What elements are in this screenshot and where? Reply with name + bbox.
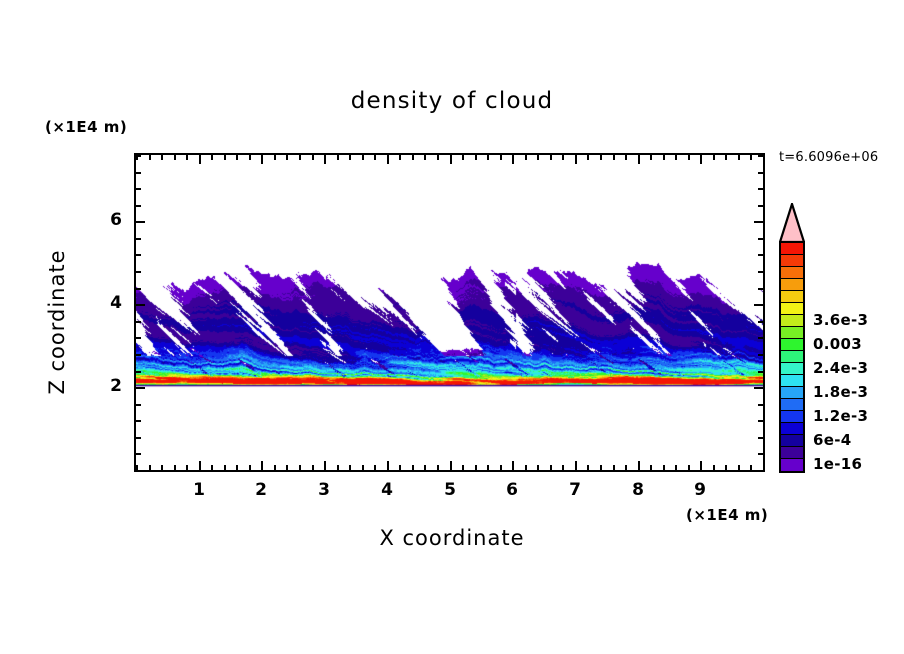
axis-tick [299,155,301,160]
colorbar-tick-label: 0.003 [813,335,862,353]
axis-tick [136,354,141,356]
colorbar-band [781,435,803,447]
axis-tick [758,321,763,323]
axis-tick [758,238,763,240]
colorbar-band [781,423,803,435]
axis-tick [512,461,514,470]
axis-tick [136,205,141,207]
axis-tick [650,465,652,470]
colorbar-band [781,351,803,363]
axis-tick [613,155,615,160]
axis-tick [758,205,763,207]
plot-stage: density of cloud (×1E4 m) t=6.6096e+06 1… [0,0,904,654]
axis-tick [758,288,763,290]
axis-tick [475,465,477,470]
axis-tick [136,387,145,389]
axis-tick [312,465,314,470]
colorbar-band [781,375,803,387]
axis-tick [688,155,690,160]
axis-tick [587,155,589,160]
axis-tick [713,155,715,160]
axis-tick [362,465,364,470]
axis-tick [550,465,552,470]
axis-tick [149,465,151,470]
axis-tick [650,155,652,160]
x-tick-label: 3 [294,480,354,500]
axis-tick [758,437,763,439]
axis-tick [758,271,763,273]
x-tick-label: 8 [608,480,668,500]
colorbar-extend-arrow-icon [779,203,805,243]
page-title: density of cloud [0,88,904,114]
axis-tick [136,221,145,223]
axis-tick [487,155,489,160]
axis-tick [424,465,426,470]
colorbar-band [781,291,803,303]
axis-tick [337,465,339,470]
axis-tick [437,465,439,470]
colorbar-band [781,243,803,255]
axis-tick [211,155,213,160]
timestamp-annotation: t=6.6096e+06 [779,150,878,165]
axis-tick [387,461,389,470]
axis-tick [437,155,439,160]
contour-field-canvas [136,155,763,470]
axis-tick [174,155,176,160]
axis-tick [136,288,141,290]
axis-tick [600,465,602,470]
axis-tick [575,461,577,470]
axis-tick [349,155,351,160]
axis-tick [625,465,627,470]
colorbar-tick-label: 1.8e-3 [813,383,868,401]
axis-tick [758,155,763,157]
axis-tick [136,188,141,190]
x-tick-label: 2 [231,480,291,500]
axis-tick [750,465,752,470]
axis-tick [161,465,163,470]
axis-tick [512,155,514,164]
colorbar-band [781,363,803,375]
axis-tick [537,155,539,160]
axis-tick [758,188,763,190]
axis-tick [136,337,141,339]
axis-tick [136,271,141,273]
colorbar-tick-label: 3.6e-3 [813,311,868,329]
axis-tick [638,155,640,164]
colorbar-tick-label: 1.2e-3 [813,407,868,425]
colorbar-band [781,339,803,351]
axis-tick [562,465,564,470]
axis-tick [312,155,314,160]
axis-tick [136,254,141,256]
axis-tick [763,465,765,470]
axis-tick [700,461,702,470]
axis-tick [487,465,489,470]
axis-tick [186,155,188,160]
axis-tick [362,155,364,160]
x-tick-label: 6 [482,480,542,500]
axis-tick [450,155,452,164]
colorbar-band [781,411,803,423]
axis-tick [136,470,141,472]
axis-tick [424,155,426,160]
axis-tick [738,465,740,470]
colorbar-bands [779,241,805,473]
axis-tick [462,155,464,160]
colorbar-band [781,327,803,339]
axis-tick [236,465,238,470]
axis-tick [324,461,326,470]
axis-tick [374,465,376,470]
x-tick-label: 4 [357,480,417,500]
axis-tick [725,465,727,470]
axis-tick [758,254,763,256]
colorbar-band [781,255,803,267]
axis-tick [758,354,763,356]
axis-tick [758,420,763,422]
axis-tick [349,465,351,470]
colorbar-band [781,267,803,279]
axis-tick [500,465,502,470]
x-axis-title: X coordinate [0,526,904,550]
y-axis-unit-label: (×1E4 m) [45,118,127,136]
axis-tick [688,465,690,470]
colorbar-tick-label: 1e-16 [813,455,862,473]
axis-tick [224,155,226,160]
x-tick-label: 5 [420,480,480,500]
x-tick-label: 7 [545,480,605,500]
axis-tick [758,172,763,174]
axis-tick [136,321,141,323]
colorbar: 1e-166e-41.2e-31.8e-32.4e-30.0033.6e-3 [779,203,899,483]
axis-tick [199,461,201,470]
axis-tick [613,465,615,470]
axis-tick [600,155,602,160]
axis-tick [299,465,301,470]
axis-tick [261,155,263,164]
axis-tick [199,155,201,164]
axis-tick [675,465,677,470]
axis-tick [587,465,589,470]
colorbar-band [781,447,803,459]
axis-tick [758,470,763,472]
colorbar-band [781,303,803,315]
colorbar-band [781,315,803,327]
axis-tick [575,155,577,164]
colorbar-band [781,399,803,411]
axis-tick [525,465,527,470]
axis-tick [399,155,401,160]
axis-tick [136,172,141,174]
axis-tick [750,155,752,160]
axis-tick [562,155,564,160]
axis-tick [136,155,141,157]
axis-tick [274,155,276,160]
colorbar-band [781,459,803,471]
axis-tick [625,155,627,160]
axis-tick [174,465,176,470]
axis-tick [149,155,151,160]
axis-tick [136,420,141,422]
axis-tick [525,155,527,160]
colorbar-band [781,387,803,399]
axis-tick [450,461,452,470]
axis-tick [211,465,213,470]
axis-tick [387,155,389,164]
axis-tick [399,465,401,470]
axis-tick [136,453,141,455]
axis-tick [754,221,763,223]
axis-tick [286,465,288,470]
axis-tick [136,371,141,373]
axis-tick [500,155,502,160]
y-tick-label: 6 [88,210,122,230]
axis-tick [136,304,145,306]
axis-tick [249,155,251,160]
y-axis-title: Z coordinate [45,242,69,402]
axis-tick [136,238,141,240]
axis-tick [663,465,665,470]
plot-area [134,153,765,472]
axis-tick [754,304,763,306]
colorbar-tick-label: 2.4e-3 [813,359,868,377]
colorbar-band [781,279,803,291]
axis-tick [412,465,414,470]
axis-tick [675,155,677,160]
axis-tick [700,155,702,164]
axis-tick [758,453,763,455]
axis-tick [758,337,763,339]
axis-tick [249,465,251,470]
x-tick-label: 9 [670,480,730,500]
axis-tick [224,465,226,470]
axis-tick [136,437,141,439]
x-tick-label: 1 [169,480,229,500]
axis-tick [638,461,640,470]
colorbar-tick-label: 6e-4 [813,431,851,449]
axis-tick [462,465,464,470]
y-tick-label: 2 [88,376,122,396]
y-tick-label: 4 [88,293,122,313]
axis-tick [537,465,539,470]
axis-tick [286,155,288,160]
axis-tick [763,155,765,160]
axis-tick [136,404,141,406]
axis-tick [412,155,414,160]
axis-tick [754,387,763,389]
axis-tick [663,155,665,160]
axis-tick [274,465,276,470]
axis-tick [374,155,376,160]
axis-tick [758,371,763,373]
axis-tick [550,155,552,160]
axis-tick [758,404,763,406]
axis-tick [475,155,477,160]
axis-tick [725,155,727,160]
x-axis-unit-label: (×1E4 m) [686,506,768,524]
axis-tick [236,155,238,160]
axis-tick [713,465,715,470]
axis-tick [738,155,740,160]
axis-tick [161,155,163,160]
axis-tick [324,155,326,164]
axis-tick [337,155,339,160]
axis-tick [186,465,188,470]
axis-tick [261,461,263,470]
